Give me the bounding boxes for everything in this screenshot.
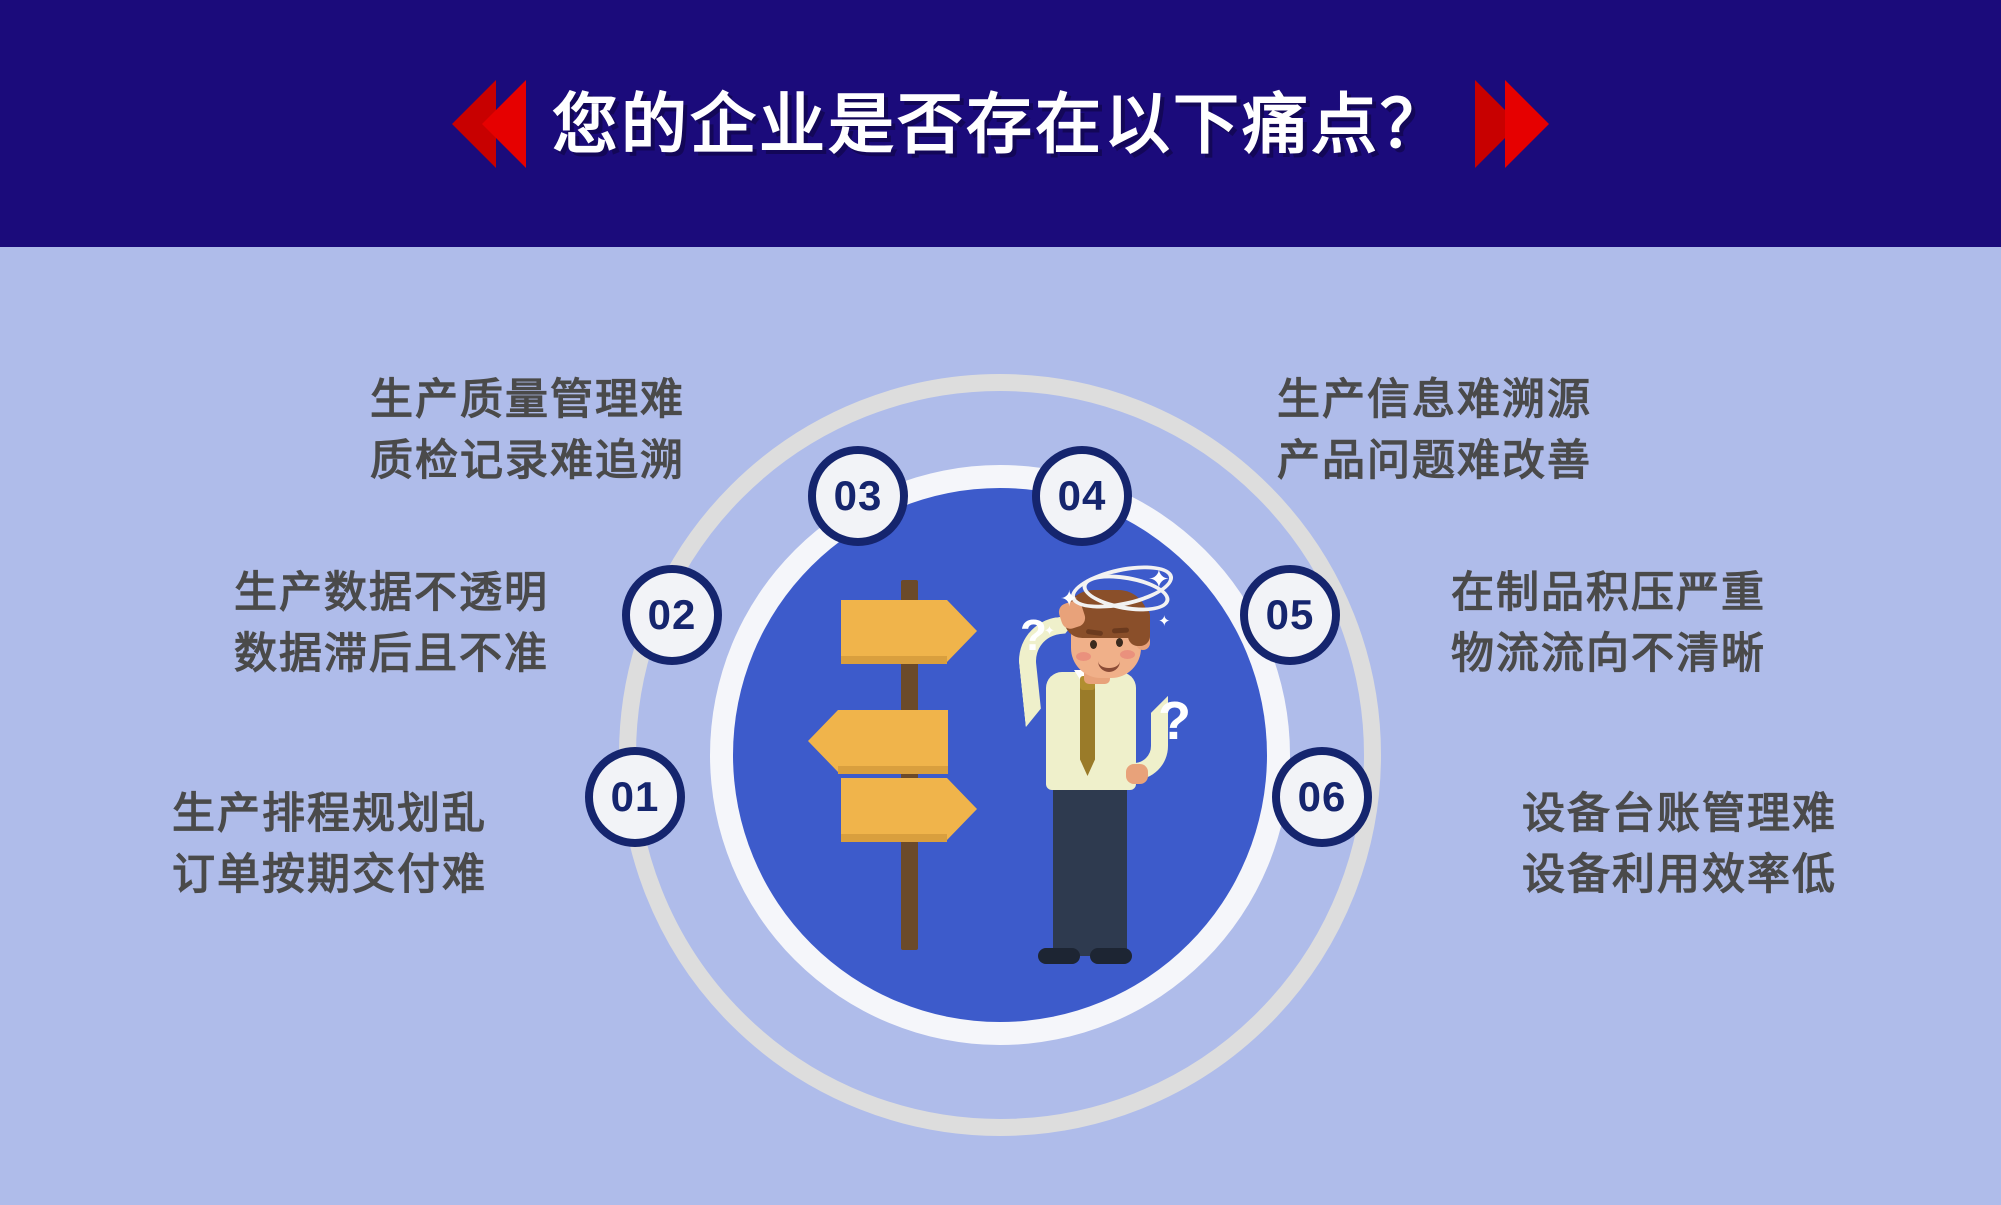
pain-point-02-line1: 生产数据不透明 <box>234 563 549 624</box>
diagram-stage: ✦ ✦ ✦ ✦ ? ? 01 02 03 04 05 06 生产排程规划乱 订单… <box>0 247 2001 1205</box>
pain-point-04-line1: 生产信息难溯源 <box>1277 370 1592 431</box>
sign-shadow-2 <box>838 766 948 774</box>
person-leg-gap <box>1030 818 1039 948</box>
step-circle-05[interactable]: 05 <box>1240 565 1340 665</box>
step-circle-03[interactable]: 03 <box>808 446 908 546</box>
header-band: 您的企业是否存在以下痛点？ <box>0 0 2001 247</box>
sign-tip-1 <box>947 600 977 662</box>
question-mark-icon-1: ? <box>1020 614 1047 658</box>
pain-point-02-line2: 数据滞后且不准 <box>234 624 549 685</box>
step-circle-01[interactable]: 01 <box>585 747 685 847</box>
confused-person-figure: ✦ ✦ ✦ ✦ ? ? <box>998 566 1198 966</box>
person-hand-hip <box>1126 764 1148 784</box>
pain-point-text-05: 在制品积压严重 物流流向不清晰 <box>1451 563 1766 685</box>
sign-shadow-1 <box>841 656 947 664</box>
step-circle-02[interactable]: 02 <box>622 565 722 665</box>
pain-point-text-01: 生产排程规划乱 订单按期交付难 <box>172 784 487 906</box>
pain-point-text-02: 生产数据不透明 数据滞后且不准 <box>234 563 549 685</box>
star-icon-2: ✦ <box>1148 566 1170 592</box>
pain-point-06-line1: 设备台账管理难 <box>1522 784 1837 845</box>
sign-tip-3 <box>947 778 977 840</box>
person-shoe-right <box>1090 948 1132 964</box>
pain-point-01-line2: 订单按期交付难 <box>172 845 487 906</box>
center-illustration-disc: ✦ ✦ ✦ ✦ ? ? <box>733 488 1267 1022</box>
signpost-arrow-1 <box>841 600 947 662</box>
person-eye-right <box>1116 638 1123 647</box>
page-title: 您的企业是否存在以下痛点？ <box>552 91 1449 157</box>
pain-point-06-line2: 设备利用效率低 <box>1522 845 1837 906</box>
pain-point-text-04: 生产信息难溯源 产品问题难改善 <box>1277 370 1592 492</box>
person-hair-side <box>1128 606 1150 646</box>
slide-root: 您的企业是否存在以下痛点？ <box>0 0 2001 1205</box>
pain-point-04-line2: 产品问题难改善 <box>1277 431 1592 492</box>
step-circle-06[interactable]: 06 <box>1272 747 1372 847</box>
sign-tip-2 <box>808 710 838 772</box>
person-cheek-left <box>1076 652 1091 661</box>
signpost-arrow-3 <box>841 778 947 840</box>
header-content: 您的企业是否存在以下痛点？ <box>0 0 2001 247</box>
sign-shadow-3 <box>841 834 947 842</box>
double-chevron-left-icon <box>452 80 526 168</box>
person-legs <box>1053 778 1127 956</box>
double-chevron-right-icon <box>1475 80 1549 168</box>
pain-point-text-03: 生产质量管理难 质检记录难追溯 <box>370 370 685 492</box>
person-shoe-left <box>1038 948 1080 964</box>
pain-point-03-line1: 生产质量管理难 <box>370 370 685 431</box>
person-eye-left <box>1090 640 1097 649</box>
chevron-right-2 <box>1505 80 1549 168</box>
person-cheek-right <box>1120 650 1135 659</box>
star-icon-1: ✦ <box>1060 588 1078 610</box>
star-icon-3: ✦ <box>1158 614 1171 629</box>
chevron-left-2 <box>482 80 526 168</box>
pain-point-03-line2: 质检记录难追溯 <box>370 431 685 492</box>
pain-point-05-line1: 在制品积压严重 <box>1451 563 1766 624</box>
step-circle-04[interactable]: 04 <box>1032 446 1132 546</box>
pain-point-05-line2: 物流流向不清晰 <box>1451 624 1766 685</box>
pain-point-text-06: 设备台账管理难 设备利用效率低 <box>1522 784 1837 906</box>
question-mark-icon-2: ? <box>1158 694 1191 748</box>
pain-point-01-line1: 生产排程规划乱 <box>172 784 487 845</box>
signpost-arrow-2 <box>838 710 948 772</box>
